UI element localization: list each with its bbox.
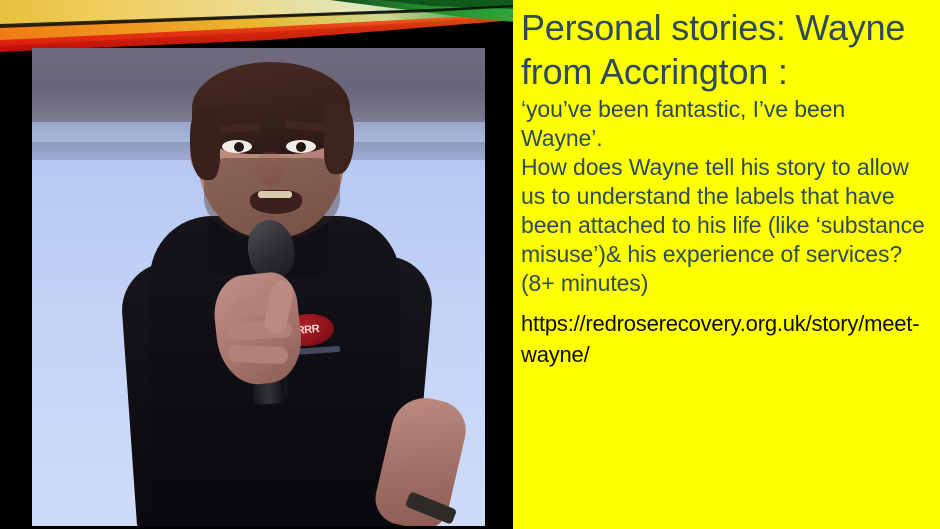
photo-content: RRR	[32, 48, 485, 526]
ribbon-icon	[0, 0, 515, 52]
slide-title: Personal stories: Wayne from Accrington …	[521, 6, 932, 94]
speaker-hair-right	[324, 104, 354, 174]
slide-body-text: ‘you’ve been fantastic, I’ve been Wayne’…	[521, 95, 932, 298]
source-link[interactable]: https://redroserecovery.org.uk/story/mee…	[521, 308, 932, 370]
speaker-pupil-right	[296, 142, 306, 152]
speaker-pupil-left	[234, 142, 244, 152]
speaker-nose	[256, 152, 284, 186]
speaker-teeth	[258, 191, 292, 198]
speaker-finger-3	[228, 345, 289, 364]
content-panel: Personal stories: Wayne from Accrington …	[513, 0, 940, 529]
speaker-hair-left	[190, 106, 220, 180]
speaker-photo: RRR	[32, 48, 485, 526]
decorative-ribbon-banner	[0, 0, 515, 52]
presentation-slide: RRR	[0, 0, 940, 529]
